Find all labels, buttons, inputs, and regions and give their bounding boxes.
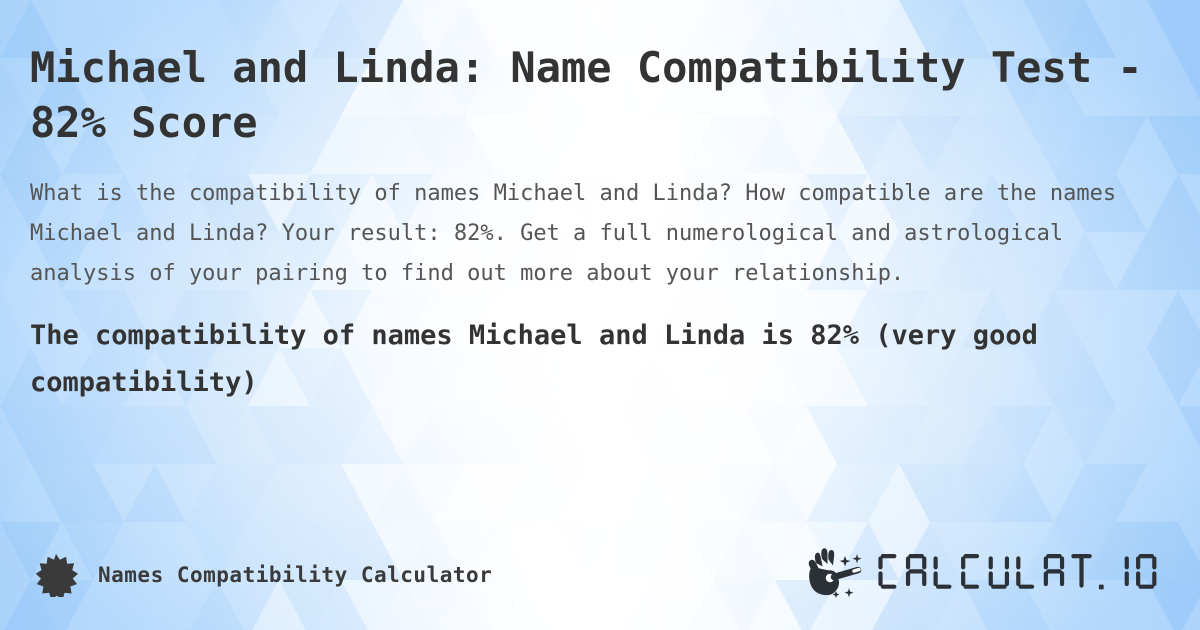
compatibility-result: The compatibility of names Michael and L… [30,312,1170,406]
magic-wand-hand-icon [806,548,868,602]
brand-label: Names Compatibility Calculator [98,563,492,587]
calculatio-logo[interactable] [806,548,1166,602]
starburst-icon [34,553,78,597]
footer-bar: Names Compatibility Calculator [0,530,1200,630]
page-title: Michael and Linda: Name Compatibility Te… [30,40,1170,150]
og-image-card: Michael and Linda: Name Compatibility Te… [0,0,1200,630]
logo-wordmark [876,552,1166,598]
brand-block: Names Compatibility Calculator [34,553,492,597]
page-description: What is the compatibility of names Micha… [30,174,1170,294]
